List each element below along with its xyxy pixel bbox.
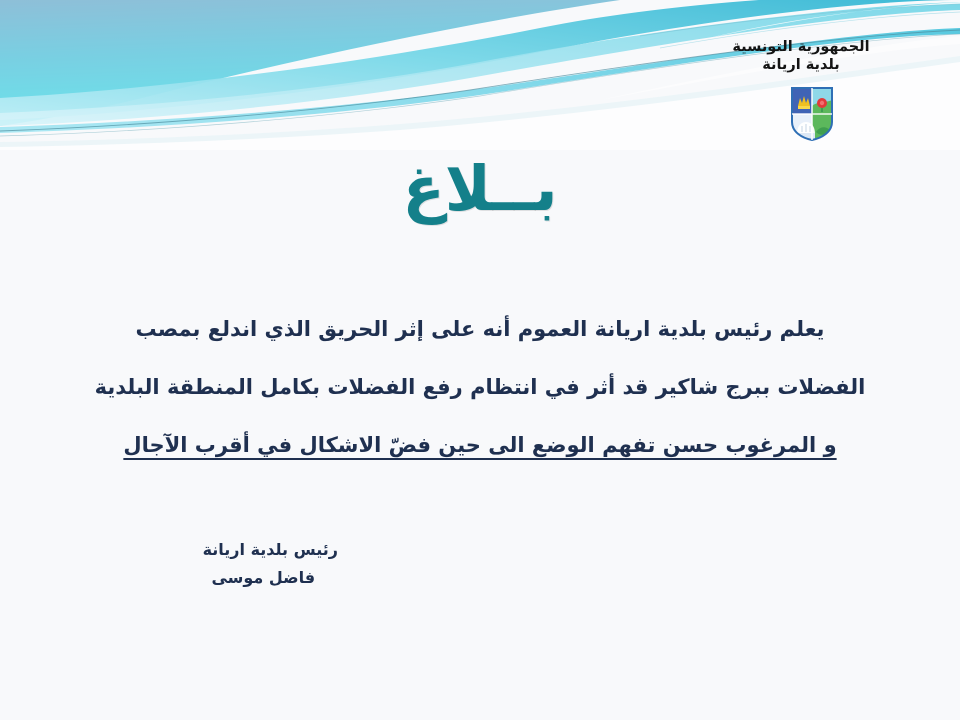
announcement-body: يعلم رئيس بلدية اريانة العموم أنه على إث…: [48, 300, 912, 474]
organization-republic-line: الجمهورية التونسية: [666, 38, 936, 56]
page-title: بــلاغ: [0, 152, 960, 225]
signature-name: فاضل موسى: [203, 564, 338, 592]
ariana-municipality-emblem-icon: [789, 86, 835, 142]
organization-header: الجمهورية التونسية بلدية اريانة: [666, 38, 936, 74]
body-line-1: يعلم رئيس بلدية اريانة العموم أنه على إث…: [48, 300, 912, 358]
organization-municipality-line: بلدية اريانة: [666, 56, 936, 74]
signature-role: رئيس بلدية اريانة: [203, 536, 338, 564]
signature-block: رئيس بلدية اريانة فاضل موسى: [203, 536, 338, 592]
body-line-2: الفضلات ببرج شاكير قد أثر في انتظام رفع …: [48, 358, 912, 416]
announcement-slide: الجمهورية التونسية بلدية اريانة: [0, 0, 960, 720]
body-line-3: و المرغوب حسن تفهم الوضع الى حين فضّ الا…: [48, 416, 912, 474]
